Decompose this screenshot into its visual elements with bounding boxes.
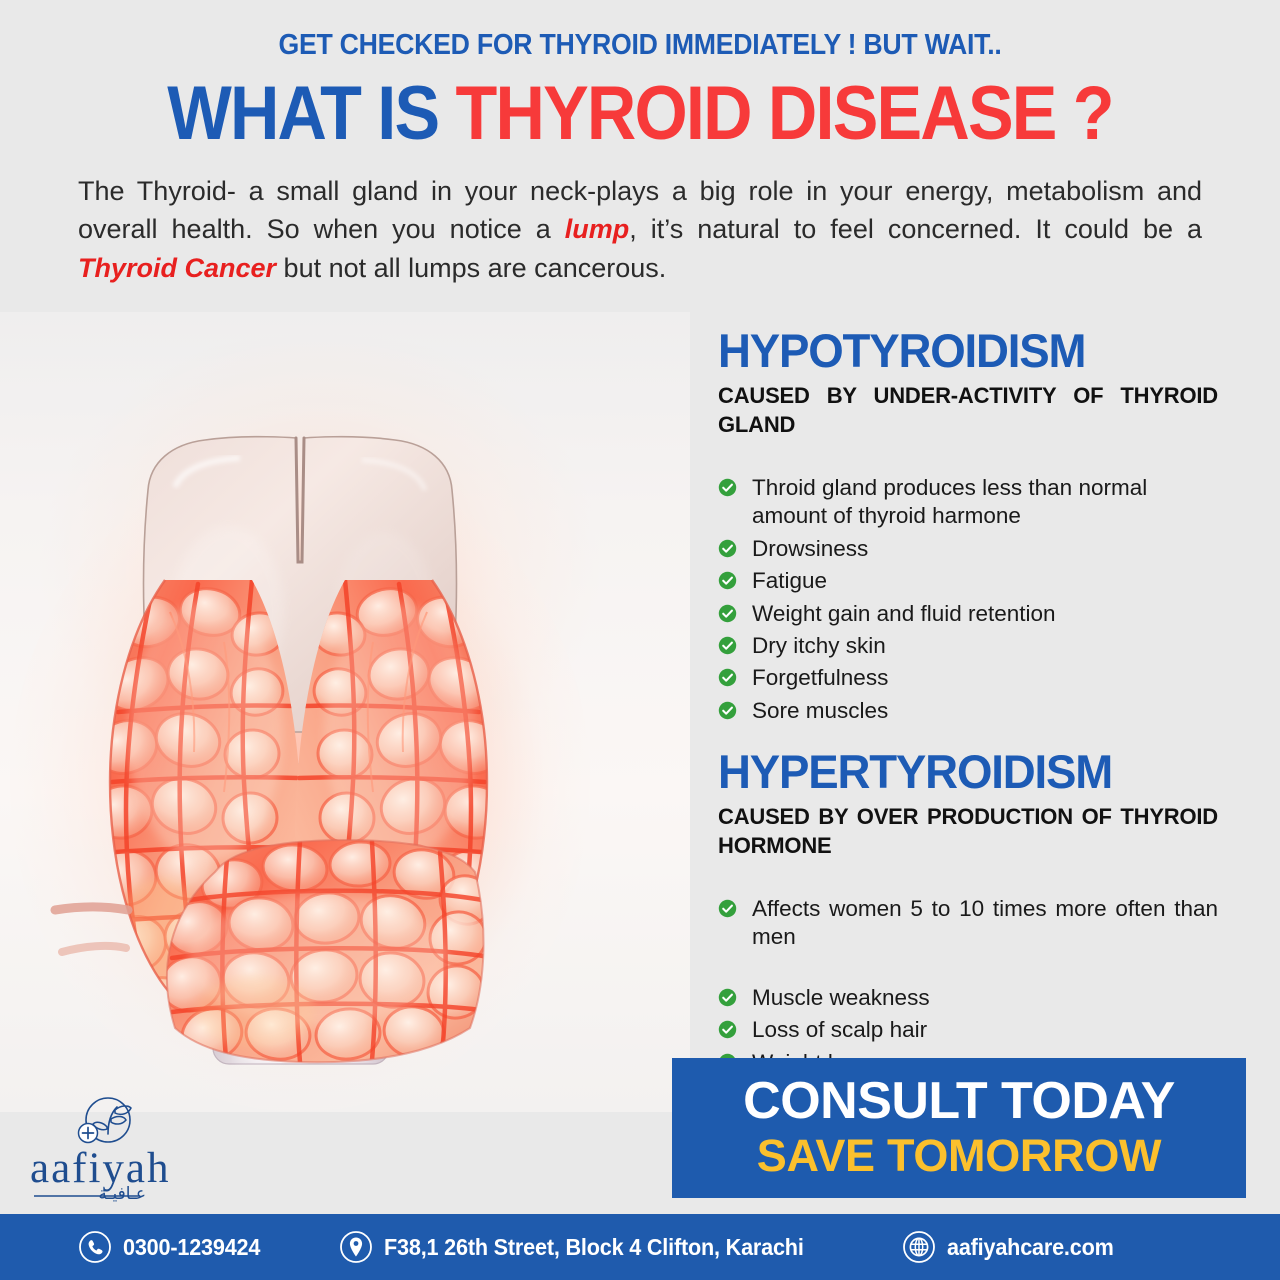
list-item: Fatigue <box>718 567 1218 595</box>
section-hypothyroidism: HYPOTYROIDISM CAUSED BY UNDER-ACTIVITY O… <box>718 326 1218 725</box>
section-subtitle-hyperthyroidism: CAUSED BY OVER PRODUCTION OF THYROID HOR… <box>718 803 1218 889</box>
thyroid-gland-svg <box>0 312 690 1112</box>
conditions-column: HYPOTYROIDISM CAUSED BY UNDER-ACTIVITY O… <box>718 326 1218 1178</box>
symptom-text: Forgetfulness <box>752 665 888 690</box>
symptom-text: Weight gain and fluid retention <box>752 601 1056 626</box>
headline-blue-part: WHAT IS <box>167 71 455 156</box>
check-circle-icon <box>718 1020 737 1039</box>
symptom-text: Sore muscles <box>752 698 888 723</box>
intro-emphasis-thyroid-cancer: Thyroid Cancer <box>78 253 276 283</box>
symptom-text: Drowsiness <box>752 536 868 561</box>
footer-phone-text: 0300-1239424 <box>123 1234 260 1261</box>
list-item: Weight gain and fluid retention <box>718 600 1218 628</box>
thyroid-anatomy-illustration <box>0 312 690 1112</box>
intro-part-3: but not all lumps are cancerous. <box>276 253 666 283</box>
medical-cross-icon <box>79 1124 98 1143</box>
aafiyah-logo: aafiyah عـافيـة <box>18 1096 238 1206</box>
headline-red-part: THYROID DISEASE ? <box>456 71 1113 156</box>
aafiyah-logo-svg: aafiyah عـافيـة <box>18 1096 238 1206</box>
section-title-hypothyroidism: HYPOTYROIDISM <box>718 326 1203 375</box>
phone-icon <box>78 1230 112 1264</box>
symptom-text: Loss of scalp hair <box>752 1017 927 1042</box>
list-item: Sore muscles <box>718 697 1218 725</box>
intro-part-2: , it’s natural to feel concerned. It cou… <box>629 214 1202 244</box>
check-circle-icon <box>718 668 737 687</box>
section-subtitle-hypothyroidism: CAUSED BY UNDER-ACTIVITY OF THYROID GLAN… <box>718 382 1218 468</box>
logo-arabic: عـافيـة <box>98 1184 146 1204</box>
check-circle-icon <box>718 988 737 1007</box>
list-item: Muscle weakness <box>718 984 1218 1012</box>
page-title: WHAT IS THYROID DISEASE ? <box>100 78 1180 150</box>
list-item: Dry itchy skin <box>718 632 1218 660</box>
footer-address-text: F38,1 26th Street, Block 4 Clifton, Kara… <box>384 1234 804 1261</box>
check-circle-icon <box>718 539 737 558</box>
check-circle-icon <box>718 571 737 590</box>
footer-website-text: aafiyahcare.com <box>947 1234 1114 1261</box>
symptom-text: Muscle weakness <box>752 985 930 1010</box>
intro-paragraph: The Thyroid- a small gland in your neck-… <box>78 172 1202 287</box>
symptom-list-hypothyroidism: Throid gland produces less than normal a… <box>718 474 1218 725</box>
footer-website[interactable]: aafiyahcare.com <box>902 1230 1124 1264</box>
list-item: Loss of scalp hair <box>718 1016 1218 1044</box>
list-item: Forgetfulness <box>718 664 1218 692</box>
symptom-text: Dry itchy skin <box>752 633 886 658</box>
cta-line-1: CONSULT TODAY <box>743 1075 1175 1127</box>
list-item: Drowsiness <box>718 535 1218 563</box>
symptom-text: Affects women 5 to 10 times more often t… <box>752 896 1218 978</box>
location-pin-icon <box>339 1230 373 1264</box>
symptom-text: Fatigue <box>752 568 827 593</box>
cta-line-2: SAVE TOMORROW <box>757 1131 1161 1181</box>
check-circle-icon <box>718 899 737 918</box>
footer-phone[interactable]: 0300-1239424 <box>78 1230 269 1264</box>
list-item: Throid gland produces less than normal a… <box>718 474 1218 531</box>
footer-contact-bar: 0300-1239424 F38,1 26th Street, Block 4 … <box>0 1214 1280 1280</box>
consult-cta-banner[interactable]: CONSULT TODAY SAVE TOMORROW <box>672 1058 1246 1198</box>
check-circle-icon <box>718 636 737 655</box>
check-circle-icon <box>718 701 737 720</box>
section-title-hyperthyroidism: HYPERTYROIDISM <box>718 747 1203 796</box>
symptom-text: Throid gland produces less than normal a… <box>752 475 1147 528</box>
kicker-text: GET CHECKED FOR THYROID IMMEDIATELY ! BU… <box>88 30 1192 62</box>
intro-emphasis-lump: lump <box>565 214 630 244</box>
check-circle-icon <box>718 604 737 623</box>
header: GET CHECKED FOR THYROID IMMEDIATELY ! BU… <box>0 0 1280 150</box>
check-circle-icon <box>718 478 737 497</box>
footer-address[interactable]: F38,1 26th Street, Block 4 Clifton, Kara… <box>339 1230 830 1264</box>
list-item: Affects women 5 to 10 times more often t… <box>718 895 1218 980</box>
globe-icon <box>902 1230 936 1264</box>
